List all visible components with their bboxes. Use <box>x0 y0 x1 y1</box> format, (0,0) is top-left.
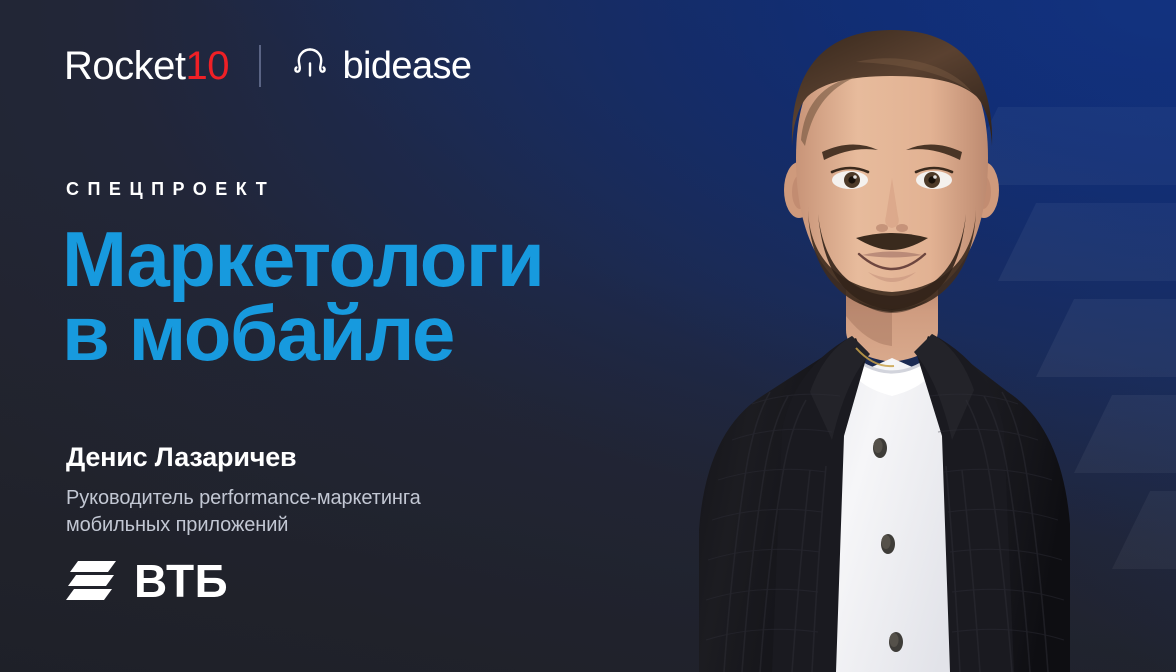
logo-divider <box>259 45 261 87</box>
promo-banner: Rocket10 bidease СПЕЦПРОЕКТ Маркетологи … <box>0 0 1176 672</box>
page-title: Маркетологи в мобайле <box>62 222 543 370</box>
rocket10-number: 10 <box>186 44 230 88</box>
speaker-portrait <box>556 0 1116 672</box>
partner-logos: Rocket10 bidease <box>64 38 471 94</box>
eyebrow-label: СПЕЦПРОЕКТ <box>66 180 275 198</box>
vtb-wordmark: ВТБ <box>134 558 228 604</box>
speaker-role: Руководитель performance-маркетинга моби… <box>66 485 421 539</box>
vtb-bars-icon <box>64 556 120 606</box>
rocket10-word: Rocket <box>64 44 186 88</box>
rocket10-logo[interactable]: Rocket10 <box>64 46 229 86</box>
vtb-logo[interactable]: ВТБ <box>64 556 228 606</box>
bidease-wordmark: bidease <box>343 47 472 85</box>
bidease-logo[interactable]: bidease <box>289 45 472 87</box>
speaker-name: Денис Лазаричев <box>66 443 296 473</box>
bidease-octopus-icon <box>289 45 331 87</box>
